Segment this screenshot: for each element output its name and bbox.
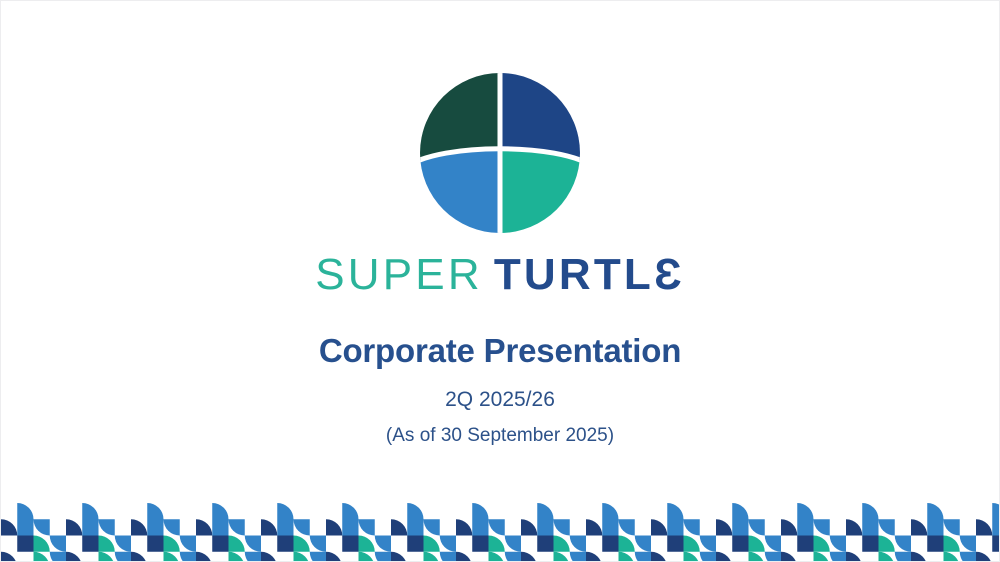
wave-shape xyxy=(927,536,943,552)
wave-shape xyxy=(50,552,66,561)
wave-shape xyxy=(115,552,131,561)
wave-shape xyxy=(17,536,33,552)
title-block: Corporate Presentation 2Q 2025/26 (As of… xyxy=(1,331,999,448)
wave-shape xyxy=(992,536,1000,552)
wave-shape xyxy=(180,552,196,561)
wave-shape xyxy=(570,552,586,561)
wave-shape xyxy=(245,552,261,561)
wordmark-super: SUPER xyxy=(315,250,483,299)
wave-shape xyxy=(537,536,553,552)
slide-as-of-date: (As of 30 September 2025) xyxy=(1,424,999,448)
wave-shape xyxy=(505,552,521,561)
wave-shape xyxy=(960,552,976,561)
slide-subtitle: 2Q 2025/26 xyxy=(1,387,999,413)
wave-shape xyxy=(375,552,391,561)
wave-shape xyxy=(732,536,748,552)
wave-shape xyxy=(472,536,488,552)
wave-shape xyxy=(310,552,326,561)
wave-shape xyxy=(342,536,358,552)
wave-shape xyxy=(700,552,716,561)
wave-shape xyxy=(602,536,618,552)
wave-shape xyxy=(212,536,228,552)
decorative-wave-pattern xyxy=(1,495,1000,561)
wave-shape xyxy=(992,503,1000,536)
wave-shape xyxy=(830,552,846,561)
wordmark-turtle: TURTLƐ xyxy=(494,250,685,299)
wave-shape xyxy=(765,552,781,561)
presentation-slide: SUPERTURTLƐ Corporate Presentation 2Q 20… xyxy=(0,0,1000,562)
wave-shape xyxy=(82,536,98,552)
wave-shape xyxy=(277,536,293,552)
wave-shape xyxy=(635,552,651,561)
wave-shape xyxy=(667,536,683,552)
wave-shape xyxy=(862,536,878,552)
wave-shape xyxy=(895,552,911,561)
super-turtle-shell-logo xyxy=(418,71,582,235)
wave-shape xyxy=(440,552,456,561)
page-title: Corporate Presentation xyxy=(1,331,999,371)
wave-shape xyxy=(797,536,813,552)
super-turtle-wordmark: SUPERTURTLƐ xyxy=(1,253,999,297)
wave-shape xyxy=(147,536,163,552)
wave-shape xyxy=(407,536,423,552)
